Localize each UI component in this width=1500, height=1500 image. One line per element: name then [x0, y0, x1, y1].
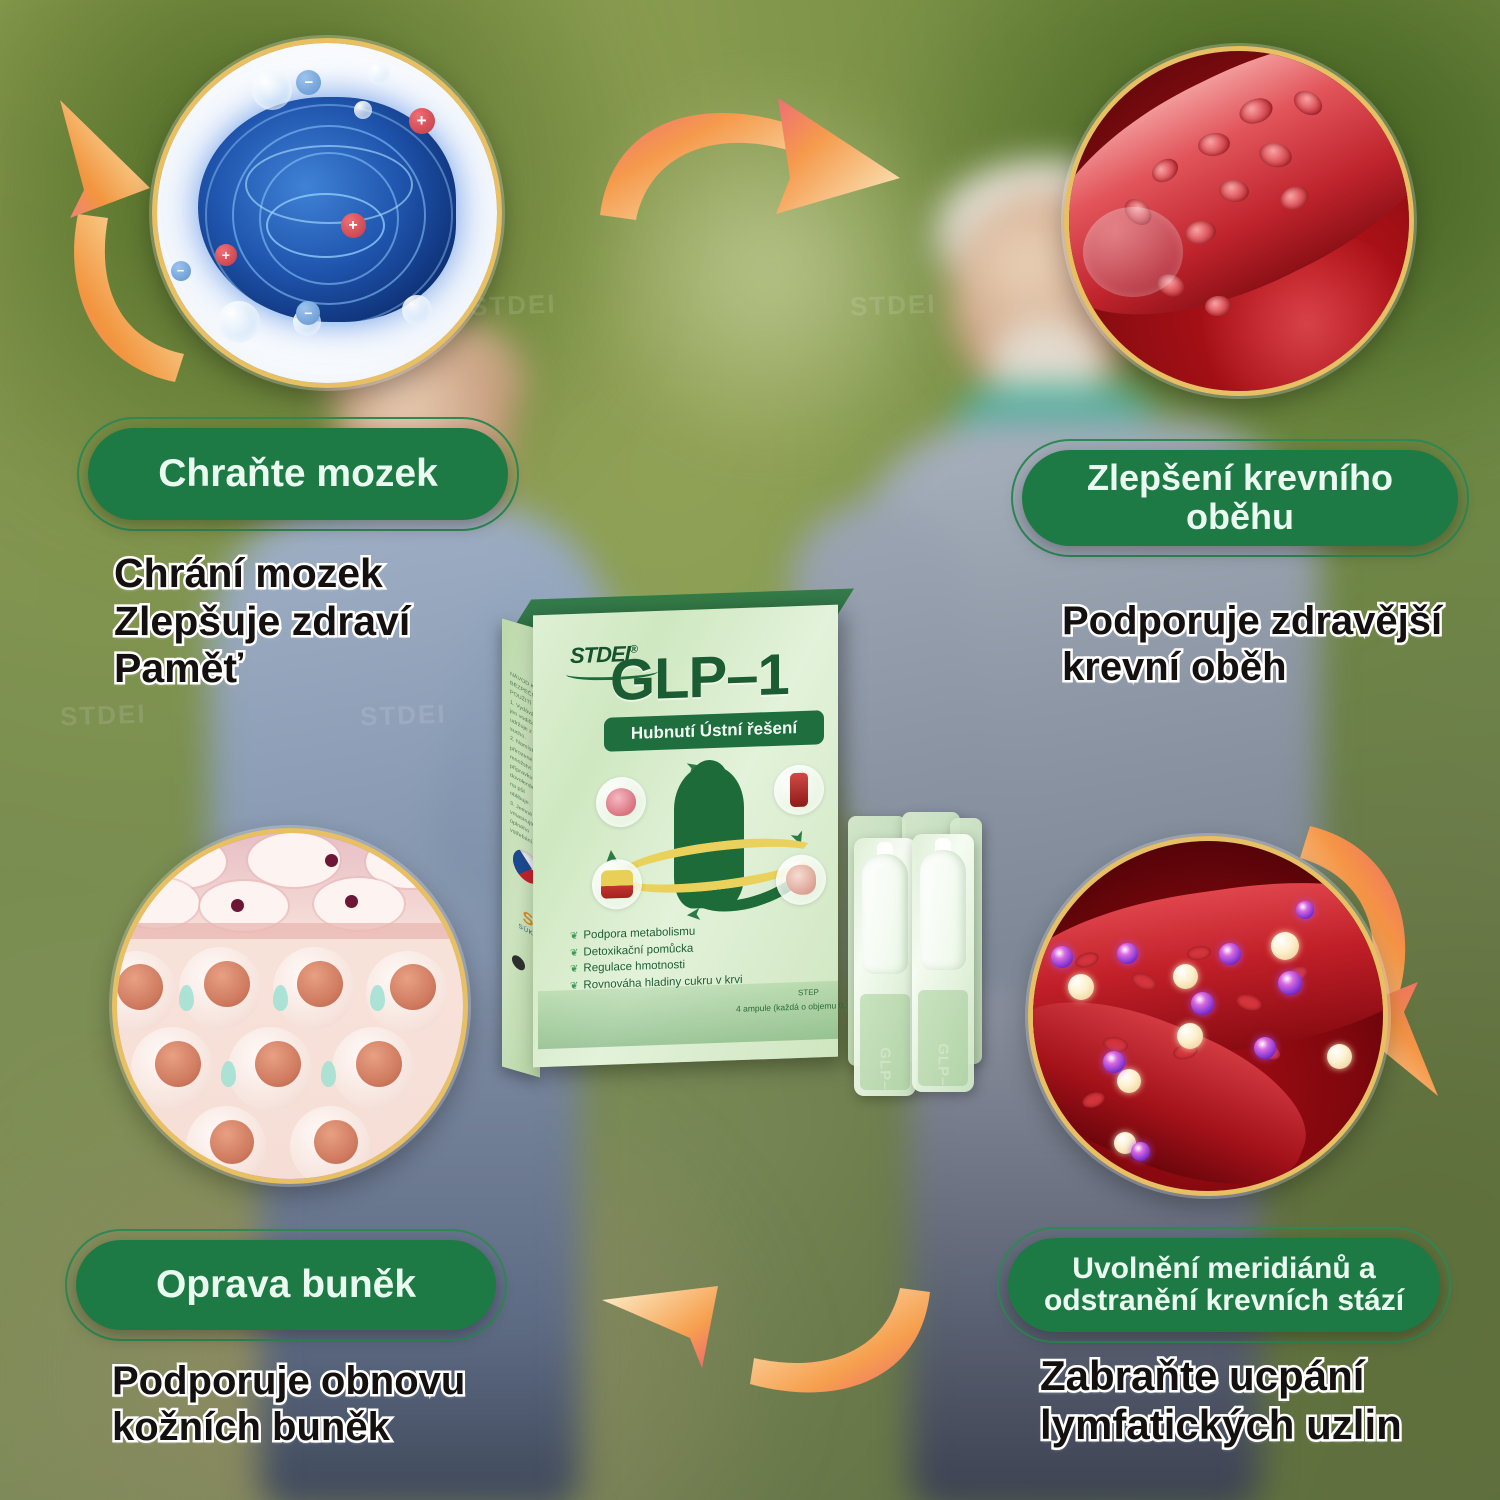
benefit-badge-cells[interactable]: Oprava buněk: [76, 1240, 496, 1330]
benefit-badge-circulation[interactable]: Zlepšení krevního oběhu: [1022, 450, 1458, 546]
blood-vessel-circle-image: [1064, 46, 1414, 396]
package-step-note: STEP: [798, 988, 819, 998]
caption-line: Zabraňte ucpání: [1040, 1352, 1402, 1401]
logo-dot-icon: [512, 953, 525, 973]
benefit-caption-lymph: Zabraňte ucpání lymfatických uzlin: [1040, 1352, 1402, 1449]
ampoule-strip: GLP–1 GLP–1: [846, 812, 982, 1100]
lymph-vessel-circle-image: [1028, 836, 1388, 1196]
skin-cells-circle-image: [112, 828, 468, 1184]
ampoule-label: GLP–1: [935, 1043, 952, 1086]
caption-line: krevní oběh: [1062, 644, 1442, 690]
badge-label-brain: Chraňte mozek: [88, 428, 508, 520]
caption-line: Paměť: [114, 645, 410, 693]
caption-line: Podporuje obnovu: [112, 1358, 465, 1404]
badge-label-lymph: Uvolnění meridiánů a odstranění krevních…: [1008, 1238, 1440, 1332]
brain-circle-image: − − − + + +: [152, 38, 502, 388]
vessel-bubble-icon: [774, 764, 824, 816]
ampoule: GLP–1: [854, 838, 916, 1096]
stomach-bubble-icon: [776, 854, 826, 906]
benefit-caption-circulation: Podporuje zdravější krevní oběh: [1062, 598, 1442, 691]
leaf-icon: ❦: [570, 947, 578, 958]
fat-cells-bubble-icon: [592, 858, 642, 910]
leaf-icon: ❦: [570, 964, 578, 975]
caption-line: lymfatických uzlin: [1040, 1401, 1402, 1450]
badge-label-circulation: Zlepšení krevního oběhu: [1022, 450, 1458, 546]
product-title: GLP–1: [610, 641, 789, 714]
infographic-canvas: STDEI STDEI STDEI STDEI STDEI: [0, 0, 1500, 1500]
package-illustration: ➤ ➤ ➤ ➤: [578, 755, 840, 916]
ampoule-label: GLP–1: [877, 1047, 894, 1090]
leaf-icon: ❦: [570, 981, 578, 992]
caption-line: Zlepšuje zdraví: [114, 598, 410, 646]
benefit-caption-brain: Chrání mozek Zlepšuje zdraví Paměť: [114, 550, 410, 693]
caption-line: Chrání mozek: [114, 550, 410, 598]
badge-label-cells: Oprava buněk: [76, 1240, 496, 1330]
benefit-badge-lymph[interactable]: Uvolnění meridiánů a odstranění krevních…: [1008, 1238, 1440, 1332]
heart-bubble-icon: [596, 776, 646, 828]
package-feature-list: ❦Podpora metabolismu ❦Detoxikační pomůck…: [570, 920, 800, 995]
benefit-badge-brain[interactable]: Chraňte mozek: [88, 428, 508, 520]
benefit-caption-cells: Podporuje obnovu kožních buněk: [112, 1358, 465, 1451]
product-package: NÁVOD K BEZPEČNÉMU POUŽITÍ 1. Vydáváte j…: [498, 588, 878, 1088]
leaf-icon: ❦: [570, 931, 578, 942]
caption-line: kožních buněk: [112, 1404, 465, 1450]
ampoule: GLP–1: [912, 834, 974, 1092]
caption-line: Podporuje zdravější: [1062, 598, 1442, 644]
